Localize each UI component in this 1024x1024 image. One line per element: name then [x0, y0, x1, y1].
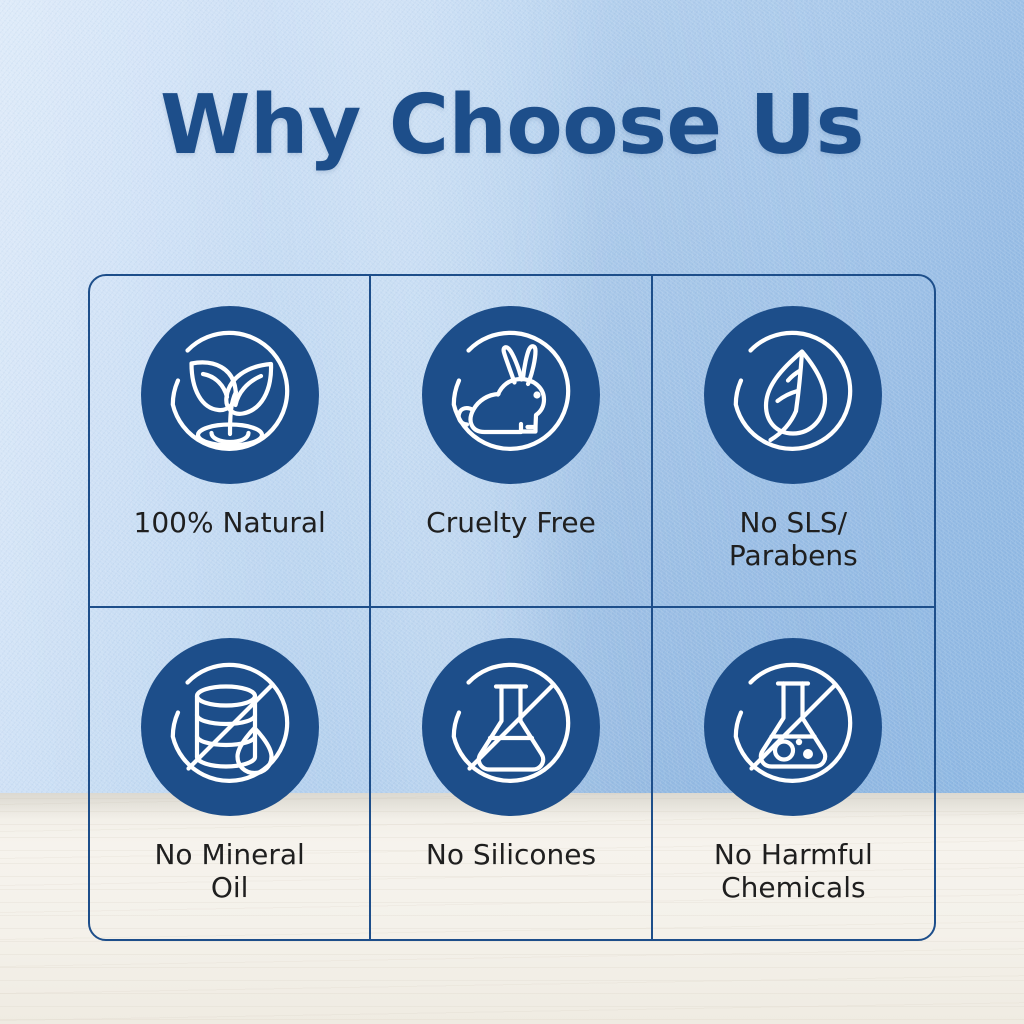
feature-label: No Harmful Chemicals [714, 838, 873, 904]
feature-label: No Mineral Oil [154, 838, 304, 904]
feature-grid: 100% Natural Cruelty Free [88, 274, 936, 941]
feature-label: No SLS/ Parabens [729, 506, 858, 572]
feature-cell-natural[interactable]: 100% Natural [90, 276, 371, 608]
leaf-icon [704, 306, 882, 484]
sprout-icon [141, 306, 319, 484]
feature-label: Cruelty Free [426, 506, 596, 539]
feature-cell-no-sls[interactable]: No SLS/ Parabens [653, 276, 934, 608]
feature-cell-no-silicones[interactable]: No Silicones [371, 608, 652, 940]
poster-canvas: Why Choose Us 100% Natural [0, 0, 1024, 1024]
feature-cell-no-mineral-oil[interactable]: No Mineral Oil [90, 608, 371, 940]
feature-label: No Silicones [426, 838, 596, 871]
feature-cell-no-harmful-chemicals[interactable]: No Harmful Chemicals [653, 608, 934, 940]
oil-barrel-icon [141, 638, 319, 816]
bubbling-flask-icon [704, 638, 882, 816]
feature-cell-cruelty-free[interactable]: Cruelty Free [371, 276, 652, 608]
feature-label: 100% Natural [134, 506, 326, 539]
page-title: Why Choose Us [0, 78, 1024, 173]
rabbit-icon [422, 306, 600, 484]
flask-icon [422, 638, 600, 816]
